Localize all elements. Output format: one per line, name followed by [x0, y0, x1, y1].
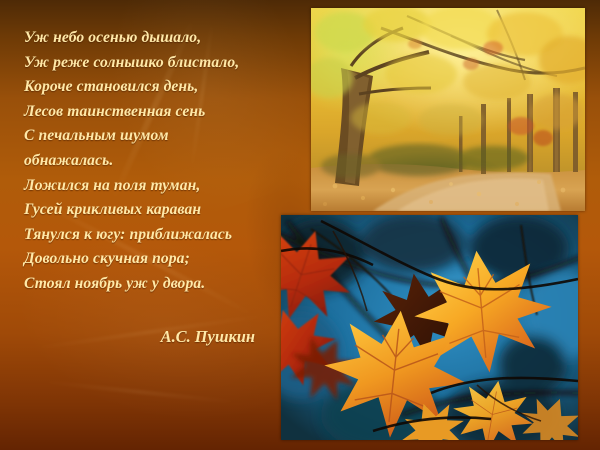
poem-line: Короче становился день,: [24, 75, 292, 100]
autumn-forest-illustration: [311, 8, 585, 211]
poem-line: обнажалась.: [24, 149, 292, 174]
poem-line: Стоял ноябрь уж у двора.: [24, 272, 292, 297]
poem-text-block: Уж небо осенью дышало, Уж реже солнышко …: [24, 26, 292, 347]
poem-line: Уж небо осенью дышало,: [24, 26, 292, 51]
poem-line: Уж реже солнышко блистало,: [24, 51, 292, 76]
poem-line: С печальным шумом: [24, 124, 292, 149]
poem-author: А.С. Пушкин: [24, 327, 292, 347]
maple-leaves-illustration: [281, 215, 578, 440]
poem-line: Гусей крикливых караван: [24, 198, 292, 223]
autumn-forest-path-photo: [311, 8, 585, 211]
maple-leaves-photo: [281, 215, 578, 440]
poem-line: Довольно скучная пора;: [24, 247, 292, 272]
poem-line: Лесов таинственная сень: [24, 100, 292, 125]
poem-line: Ложился на поля туман,: [24, 174, 292, 199]
leaf-vein-icon: [40, 380, 239, 405]
poem-line: Тянулся к югу: приближалась: [24, 223, 292, 248]
presentation-slide: Уж небо осенью дышало, Уж реже солнышко …: [0, 0, 600, 450]
